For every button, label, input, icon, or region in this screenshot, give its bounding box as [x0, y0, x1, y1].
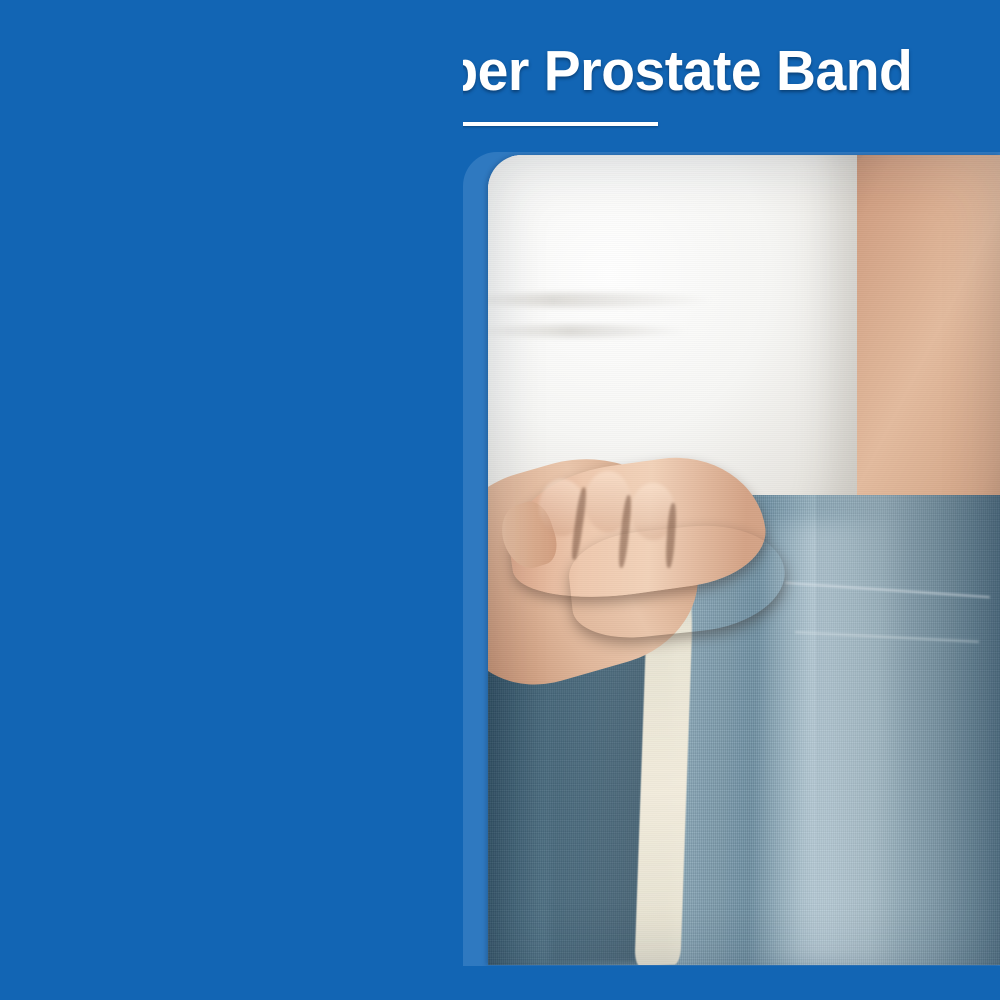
product-poster: Magnetic Copper Prostate Band 01 Efficie… [0, 0, 1000, 1000]
product-photo [488, 155, 1000, 965]
shirt-fold [488, 325, 689, 337]
shirt-fold [488, 293, 713, 307]
denim-shadow-right [816, 495, 1000, 965]
left-background-panel [0, 0, 463, 1000]
photo-scene [488, 155, 1000, 965]
photo-frame [463, 152, 1000, 967]
